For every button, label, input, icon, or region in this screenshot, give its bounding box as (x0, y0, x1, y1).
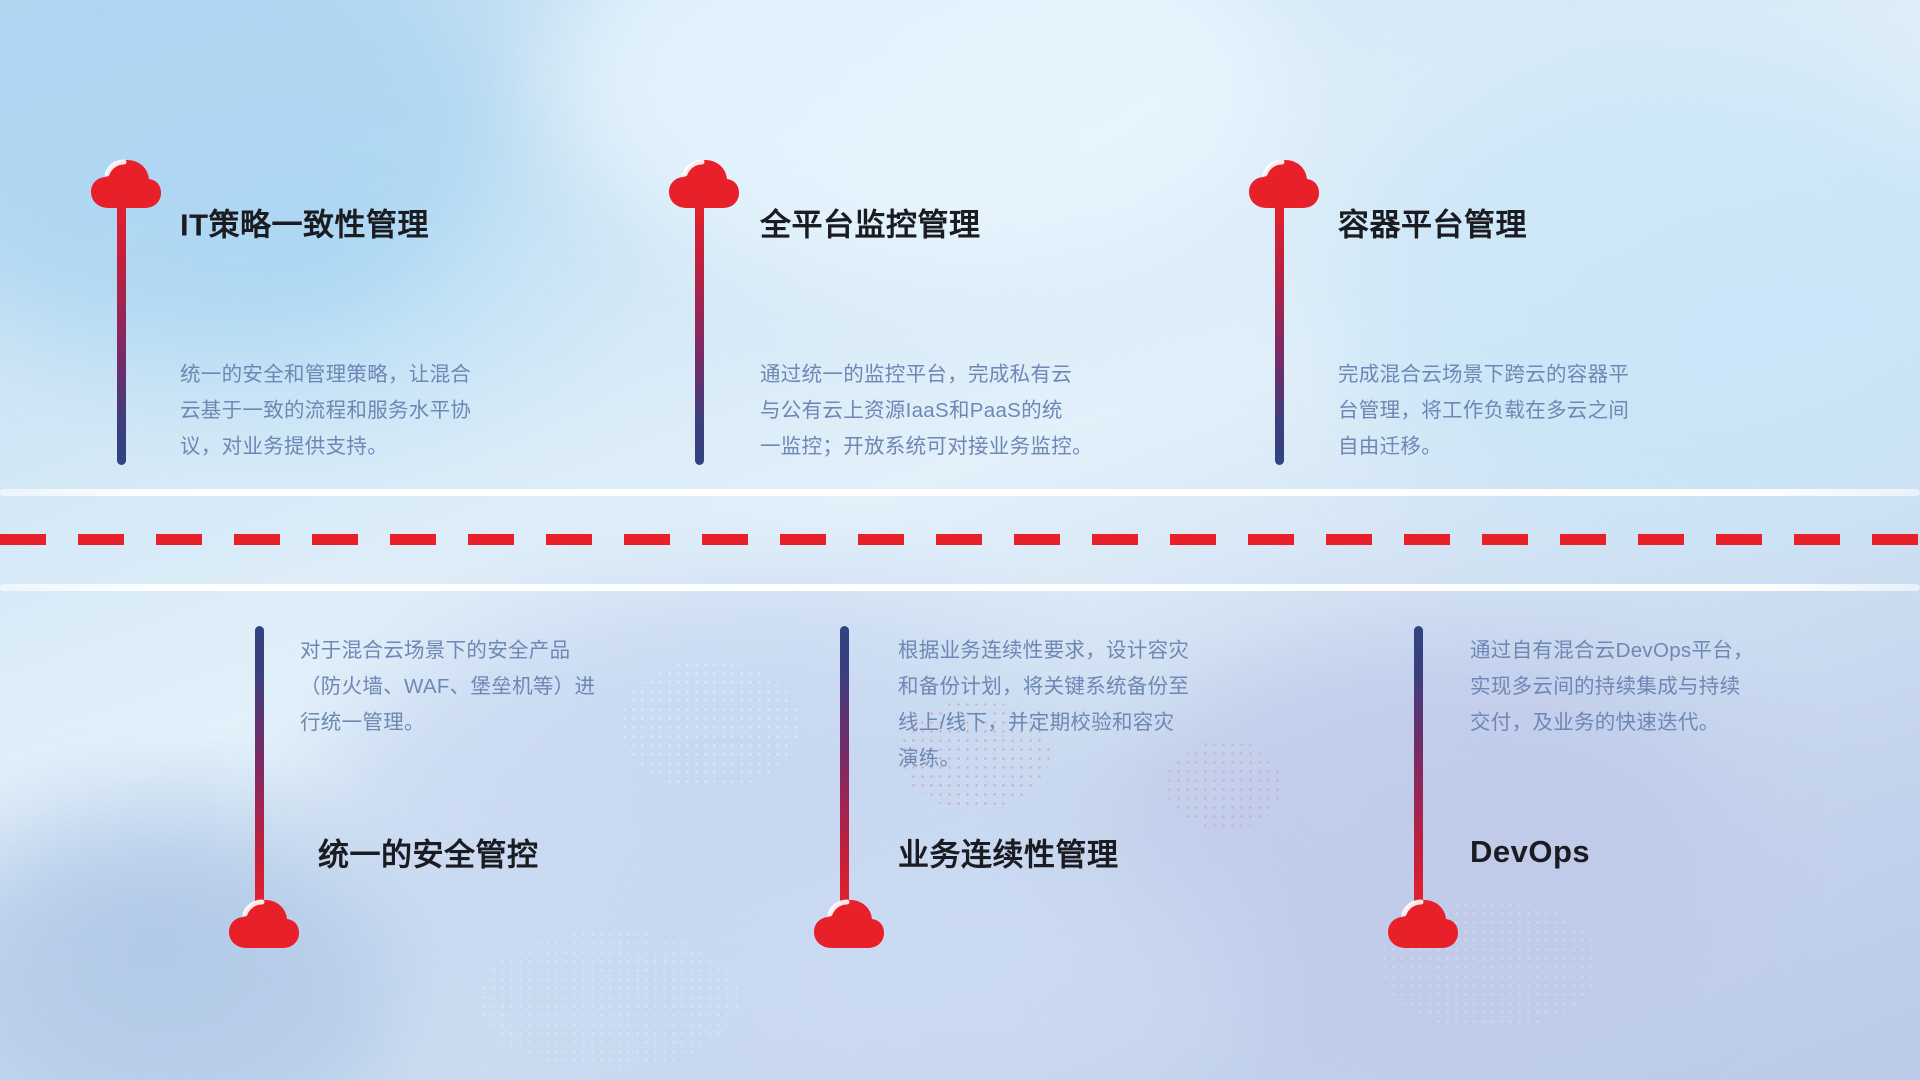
divider-rail-top (0, 489, 1920, 496)
connector-bar (840, 626, 849, 911)
cloud-icon (90, 158, 162, 210)
connector-bar (117, 200, 126, 465)
bottom-column-2-body: 根据业务连续性要求，设计容灾 和备份计划，将关键系统备份至 线上/线下，并定期校… (898, 633, 1338, 777)
connector-bar (1414, 626, 1423, 911)
top-column-3-body: 完成混合云场景下跨云的容器平 台管理，将工作负载在多云之间 自由迁移。 (1338, 357, 1778, 465)
connector-bar (1275, 200, 1284, 465)
cloud-icon (668, 158, 740, 210)
dot-texture-patch (480, 930, 740, 1070)
top-column-1-body: 统一的安全和管理策略，让混合 云基于一致的流程和服务水平协 议，对业务提供支持。 (180, 357, 620, 465)
divider-dashed-line (0, 534, 1920, 545)
top-column-1-title: IT策略一致性管理 (180, 200, 429, 245)
divider-band (0, 489, 1920, 591)
bottom-column-3-title: DevOps (1470, 834, 1590, 870)
top-column-2-body: 通过统一的监控平台，完成私有云 与公有云上资源IaaS和PaaS的统 一监控；开… (760, 357, 1230, 465)
top-column-3-title: 容器平台管理 (1338, 200, 1527, 245)
connector-bar (695, 200, 704, 465)
bottom-column-3-body: 通过自有混合云DevOps平台， 实现多云间的持续集成与持续 交付，及业务的快速… (1470, 633, 1910, 741)
connector-bar (255, 626, 264, 911)
cloud-icon (1248, 158, 1320, 210)
cloud-icon (1387, 898, 1459, 950)
top-column-2-title: 全平台监控管理 (760, 200, 981, 245)
bottom-column-1-body: 对于混合云场景下的安全产品 （防火墙、WAF、堡垒机等）进 行统一管理。 (300, 633, 740, 741)
bottom-column-2-title: 业务连续性管理 (898, 830, 1119, 875)
divider-rail-bottom (0, 584, 1920, 591)
bottom-column-1-title: 统一的安全管控 (318, 830, 539, 875)
cloud-icon (813, 898, 885, 950)
cloud-icon (228, 898, 300, 950)
bokeh-blob (0, 0, 500, 340)
